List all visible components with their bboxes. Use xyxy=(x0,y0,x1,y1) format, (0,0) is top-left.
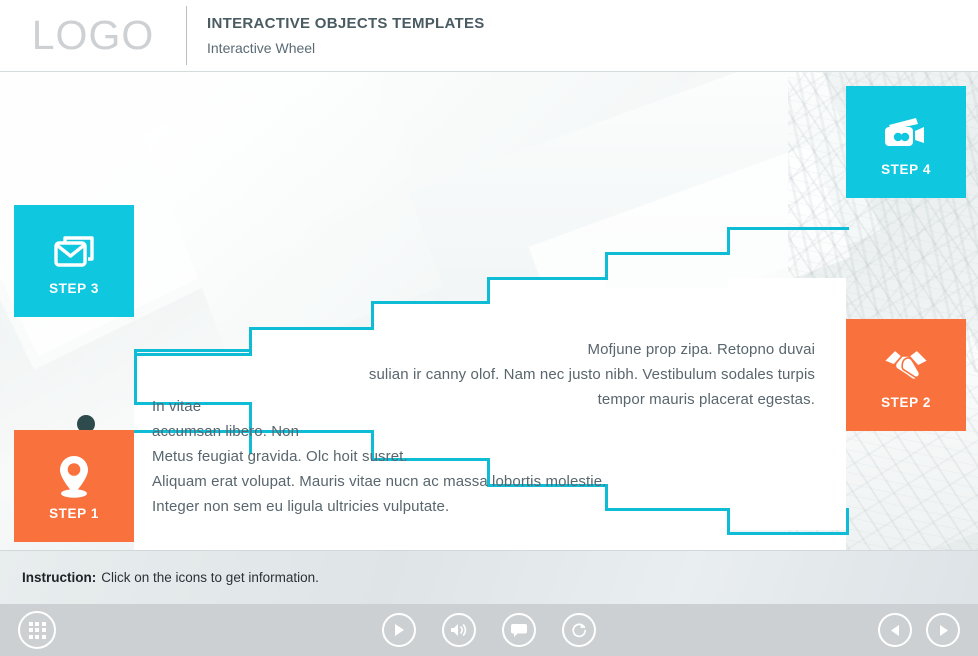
stair-line xyxy=(371,301,374,330)
volume-button[interactable] xyxy=(442,613,476,647)
stair-line xyxy=(134,353,252,356)
player-left-group xyxy=(18,611,56,649)
logo-text: LOGO xyxy=(32,12,154,59)
stair-line xyxy=(605,508,730,511)
step-3-label: STEP 3 xyxy=(49,281,99,296)
replay-button[interactable] xyxy=(562,613,596,647)
step-2-button[interactable]: STEP 2 xyxy=(846,319,966,431)
step-3-button[interactable]: STEP 3 xyxy=(14,205,134,317)
step-4-button[interactable]: STEP 4 xyxy=(846,86,966,198)
player-controls xyxy=(382,613,596,647)
play-button[interactable] xyxy=(382,613,416,647)
panel-block xyxy=(728,533,846,550)
grid-menu-button[interactable] xyxy=(18,611,56,649)
next-arrow-icon xyxy=(937,624,950,637)
app-header: LOGO INTERACTIVE OBJECTS TEMPLATES Inter… xyxy=(0,0,978,72)
step-4-label: STEP 4 xyxy=(881,162,931,177)
paragraph-left: In vitae accumsan libero. Non Metus feug… xyxy=(152,394,606,519)
stair-line xyxy=(134,349,252,352)
envelope-icon xyxy=(46,227,102,277)
volume-icon xyxy=(450,622,468,638)
step-1-button[interactable]: STEP 1 xyxy=(14,430,134,542)
previous-button[interactable] xyxy=(878,613,912,647)
player-bar xyxy=(0,604,978,656)
play-icon xyxy=(392,623,406,637)
grid-menu-icon xyxy=(29,622,46,639)
stair-line xyxy=(371,301,490,304)
stair-line xyxy=(134,349,137,405)
stair-line xyxy=(727,227,849,230)
page-title: INTERACTIVE OBJECTS TEMPLATES xyxy=(207,15,978,32)
replay-icon xyxy=(571,622,588,639)
page-subtitle: Interactive Wheel xyxy=(207,40,978,56)
instruction-label: Instruction: xyxy=(22,570,96,585)
stair-line xyxy=(487,277,608,280)
stair-line xyxy=(727,508,730,534)
header-titles: INTERACTIVE OBJECTS TEMPLATES Interactiv… xyxy=(187,0,978,71)
logo: LOGO xyxy=(0,0,186,71)
stair-line xyxy=(605,252,730,255)
step-2-label: STEP 2 xyxy=(881,395,931,410)
stair-line xyxy=(605,252,608,280)
player-nav xyxy=(878,613,960,647)
captions-button[interactable] xyxy=(502,613,536,647)
previous-arrow-icon xyxy=(889,624,902,637)
stage: Mofjune prop zipa. Retopno duvai sulian … xyxy=(0,72,978,550)
video-camera-icon xyxy=(878,108,934,158)
step-1-label: STEP 1 xyxy=(49,506,99,521)
handshake-icon xyxy=(878,341,934,391)
next-button[interactable] xyxy=(926,613,960,647)
instruction-bar: Instruction: Click on the icons to get i… xyxy=(0,550,978,604)
stair-line xyxy=(846,508,849,535)
panel-block xyxy=(606,509,728,550)
stair-line xyxy=(249,327,374,330)
stair-line xyxy=(727,532,849,535)
instruction-text: Click on the icons to get information. xyxy=(101,570,319,585)
stair-line xyxy=(487,277,490,304)
map-pin-icon xyxy=(46,452,102,502)
speech-bubble-icon xyxy=(510,622,528,638)
stair-line xyxy=(727,227,730,255)
